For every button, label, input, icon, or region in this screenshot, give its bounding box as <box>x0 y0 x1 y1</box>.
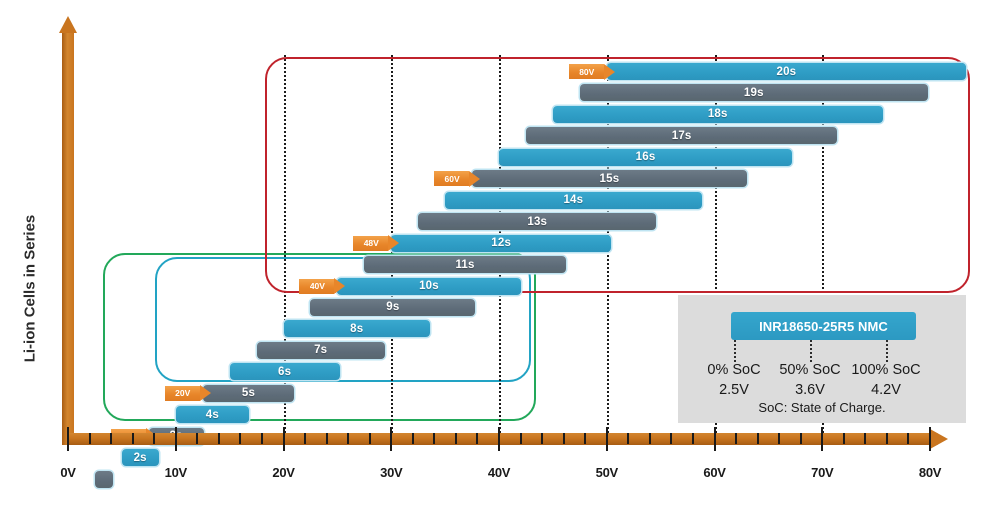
x-tick-label-40V: 40V <box>488 465 510 480</box>
legend-column-100: 100% SoC 4.2V <box>836 361 936 400</box>
bar-label: 18s <box>708 108 728 120</box>
legend-tick-100 <box>886 340 888 362</box>
x-tick-minor-26V <box>347 433 349 444</box>
x-tick-minor-74V <box>864 433 866 444</box>
bar-11s: 11s <box>364 256 565 273</box>
callout-body: 80V <box>569 64 604 79</box>
x-tick-label-50V: 50V <box>596 465 618 480</box>
x-tick-label-30V: 30V <box>380 465 402 480</box>
voltage-callout-20V: 20V <box>165 386 211 401</box>
x-tick-minor-16V <box>239 433 241 444</box>
bar-label: 12s <box>491 237 511 249</box>
legend-note: SoC: State of Charge. <box>678 400 966 415</box>
bar-label: 5s <box>242 387 255 399</box>
x-axis-arrow-icon <box>930 429 948 449</box>
bar-4s: 4s <box>176 406 249 423</box>
voltage-callout-60V: 60V <box>434 171 480 186</box>
x-tick-minor-4V <box>110 433 112 444</box>
x-tick-minor-8V <box>153 433 155 444</box>
bar-label: 6s <box>278 366 291 378</box>
bar-14s: 14s <box>445 192 701 209</box>
x-tick-major-0V <box>67 427 69 451</box>
bar-13s: 13s <box>418 213 656 230</box>
x-tick-major-20V <box>283 427 285 451</box>
callout-arrow-icon <box>469 171 480 187</box>
bar-6s: 6s <box>230 363 340 380</box>
callout-label: 20V <box>175 388 190 398</box>
x-tick-label-0V: 0V <box>60 465 75 480</box>
x-tick-minor-62V <box>735 433 737 444</box>
callout-label: 48V <box>364 238 379 248</box>
bar-19s: 19s <box>580 84 928 101</box>
bar-label: 20s <box>776 66 796 78</box>
x-tick-minor-12V <box>196 433 198 444</box>
bar-label: 11s <box>455 259 474 271</box>
bar-12s: 12s <box>391 235 611 252</box>
x-tick-minor-36V <box>455 433 457 444</box>
callout-arrow-icon <box>604 64 615 80</box>
x-tick-minor-24V <box>326 433 328 444</box>
bar-9s: 9s <box>310 299 475 316</box>
x-tick-minor-44V <box>541 433 543 444</box>
bar-5s: 5s <box>203 385 295 402</box>
callout-label: 60V <box>445 174 460 184</box>
bar-16s: 16s <box>499 149 792 166</box>
bar-1s <box>95 471 113 488</box>
callout-body: 40V <box>299 279 334 294</box>
callout-label: 40V <box>310 281 325 291</box>
x-axis <box>68 433 938 445</box>
bar-label: 17s <box>672 130 692 142</box>
x-tick-major-70V <box>821 427 823 451</box>
x-tick-minor-18V <box>261 433 263 444</box>
x-tick-major-30V <box>390 427 392 451</box>
x-tick-minor-52V <box>627 433 629 444</box>
legend-col-title: 100% SoC <box>836 361 936 381</box>
bar-label: 9s <box>386 301 399 313</box>
y-axis-label: Li-ion Cells in Series <box>22 164 39 414</box>
bar-2s: 2s <box>122 449 159 466</box>
callout-label: 80V <box>579 67 594 77</box>
bar-20s: 20s <box>607 63 966 80</box>
x-tick-major-50V <box>606 427 608 451</box>
x-tick-label-10V: 10V <box>165 465 187 480</box>
x-tick-minor-28V <box>369 433 371 444</box>
bar-17s: 17s <box>526 127 837 144</box>
x-tick-minor-58V <box>692 433 694 444</box>
x-tick-minor-34V <box>433 433 435 444</box>
callout-arrow-icon <box>388 235 399 251</box>
callout-body: 20V <box>165 386 200 401</box>
x-tick-label-60V: 60V <box>703 465 725 480</box>
legend-panel: INR18650-25R5 NMC 0% SoC 2.5V 50% SoC 3.… <box>678 295 966 423</box>
x-tick-minor-32V <box>412 433 414 444</box>
bar-label: 19s <box>744 87 764 99</box>
x-tick-minor-38V <box>476 433 478 444</box>
voltage-callout-40V: 40V <box>299 279 345 294</box>
callout-arrow-icon <box>334 278 345 294</box>
bar-label: 16s <box>636 151 656 163</box>
x-tick-minor-66V <box>778 433 780 444</box>
bar-8s: 8s <box>284 320 431 337</box>
x-tick-minor-14V <box>218 433 220 444</box>
x-tick-minor-54V <box>649 433 651 444</box>
x-tick-major-60V <box>714 427 716 451</box>
y-axis-arrow-icon <box>59 16 77 33</box>
x-tick-label-70V: 70V <box>811 465 833 480</box>
x-tick-major-10V <box>175 427 177 451</box>
callout-arrow-icon <box>200 385 211 401</box>
legend-tick-0 <box>734 340 736 362</box>
callout-body: 48V <box>353 236 388 251</box>
x-tick-minor-72V <box>843 433 845 444</box>
x-tick-minor-6V <box>132 433 134 444</box>
bar-label: 4s <box>206 409 219 421</box>
y-axis <box>62 30 74 445</box>
x-tick-label-80V: 80V <box>919 465 941 480</box>
bar-label: 13s <box>527 216 547 228</box>
x-tick-label-20V: 20V <box>272 465 294 480</box>
legend-col-value: 4.2V <box>836 381 936 401</box>
bar-label: 10s <box>419 280 439 292</box>
bar-label: 8s <box>350 323 363 335</box>
x-tick-minor-76V <box>886 433 888 444</box>
bar-label: 15s <box>600 173 620 185</box>
x-tick-minor-78V <box>907 433 909 444</box>
x-tick-major-40V <box>498 427 500 451</box>
legend-cell-chip: INR18650-25R5 NMC <box>731 312 916 340</box>
callout-body: 60V <box>434 171 469 186</box>
legend-tick-50 <box>810 340 812 362</box>
bar-18s: 18s <box>553 106 883 123</box>
x-tick-minor-46V <box>563 433 565 444</box>
x-tick-major-80V <box>929 427 931 451</box>
chart-canvas: 2s3s4s5s6s7s8s9s10s11s12s13s14s15s16s17s… <box>0 0 1000 505</box>
legend-chip-label: INR18650-25R5 NMC <box>759 319 888 334</box>
bar-15s: 15s <box>472 170 747 187</box>
bar-label: 14s <box>563 194 583 206</box>
x-tick-minor-68V <box>800 433 802 444</box>
voltage-callout-80V: 80V <box>569 64 615 79</box>
bar-label: 7s <box>314 344 327 356</box>
voltage-callout-48V: 48V <box>353 236 399 251</box>
x-tick-minor-64V <box>757 433 759 444</box>
x-tick-minor-22V <box>304 433 306 444</box>
x-tick-minor-56V <box>670 433 672 444</box>
x-tick-minor-42V <box>520 433 522 444</box>
x-tick-minor-2V <box>89 433 91 444</box>
bar-10s: 10s <box>337 278 520 295</box>
bar-7s: 7s <box>257 342 385 359</box>
x-tick-minor-48V <box>584 433 586 444</box>
bar-label: 2s <box>134 452 147 464</box>
